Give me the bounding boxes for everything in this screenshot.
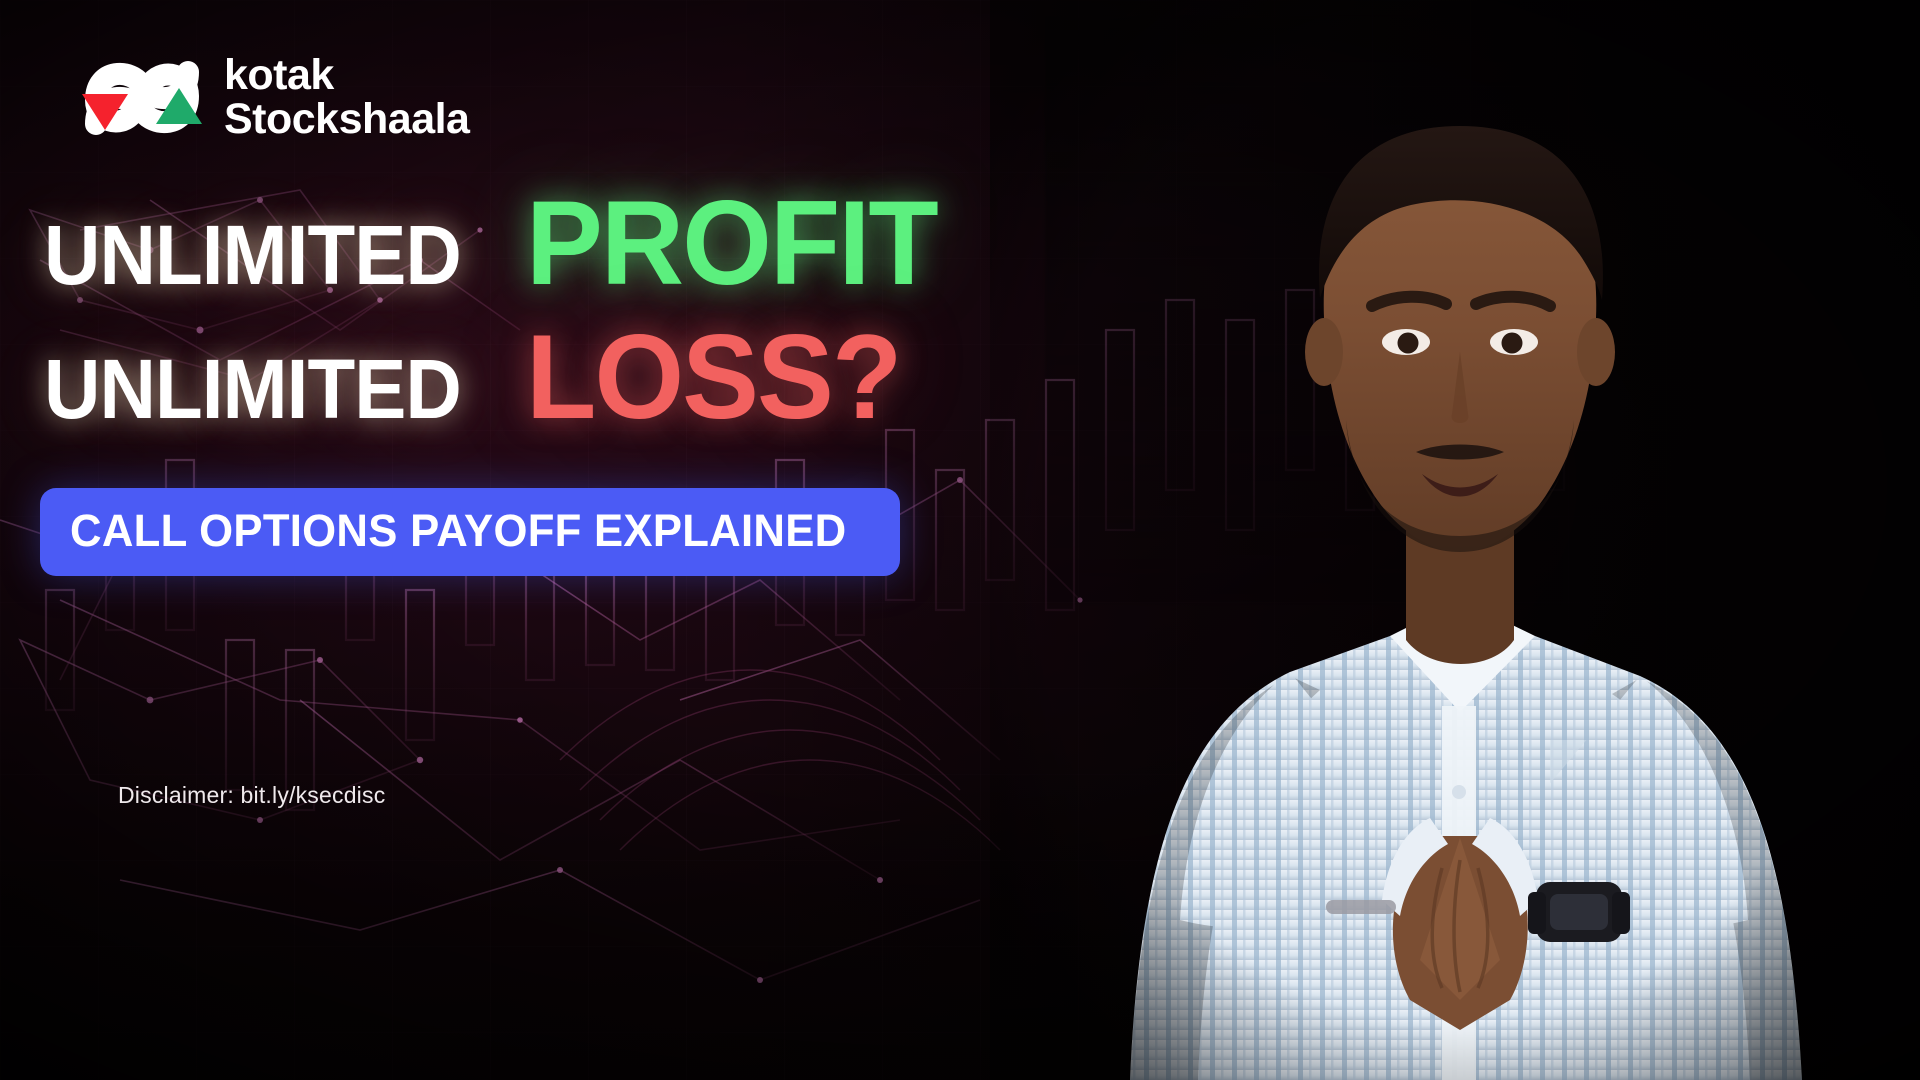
- disclaimer-text: Disclaimer: bit.ly/ksecdisc: [118, 782, 385, 809]
- headline-2-emphasis: LOSS?: [526, 322, 900, 432]
- kotak-infinity-logo-icon: [78, 48, 206, 148]
- thumbnail-canvas: kotak Stockshaala UNLIMITED PROFIT UNLIM…: [0, 0, 1920, 1080]
- presenter-photo: [990, 0, 1920, 1080]
- subtitle-banner-label: CALL OPTIONS PAYOFF EXPLAINED: [70, 505, 846, 557]
- headline-block: UNLIMITED PROFIT UNLIMITED LOSS?: [44, 188, 954, 438]
- brand-logo[interactable]: kotak Stockshaala: [78, 48, 469, 148]
- brand-name-line2: Stockshaala: [224, 98, 469, 142]
- headline-2-prefix: UNLIMITED: [44, 341, 461, 438]
- brand-name: kotak Stockshaala: [224, 54, 469, 142]
- subtitle-banner: CALL OPTIONS PAYOFF EXPLAINED: [40, 488, 900, 576]
- headline-row-1: UNLIMITED PROFIT: [44, 188, 954, 304]
- headline-1-prefix: UNLIMITED: [44, 207, 461, 304]
- brand-name-line1: kotak: [224, 54, 469, 98]
- headline-row-2: UNLIMITED LOSS?: [44, 322, 954, 438]
- headline-1-emphasis: PROFIT: [526, 188, 937, 298]
